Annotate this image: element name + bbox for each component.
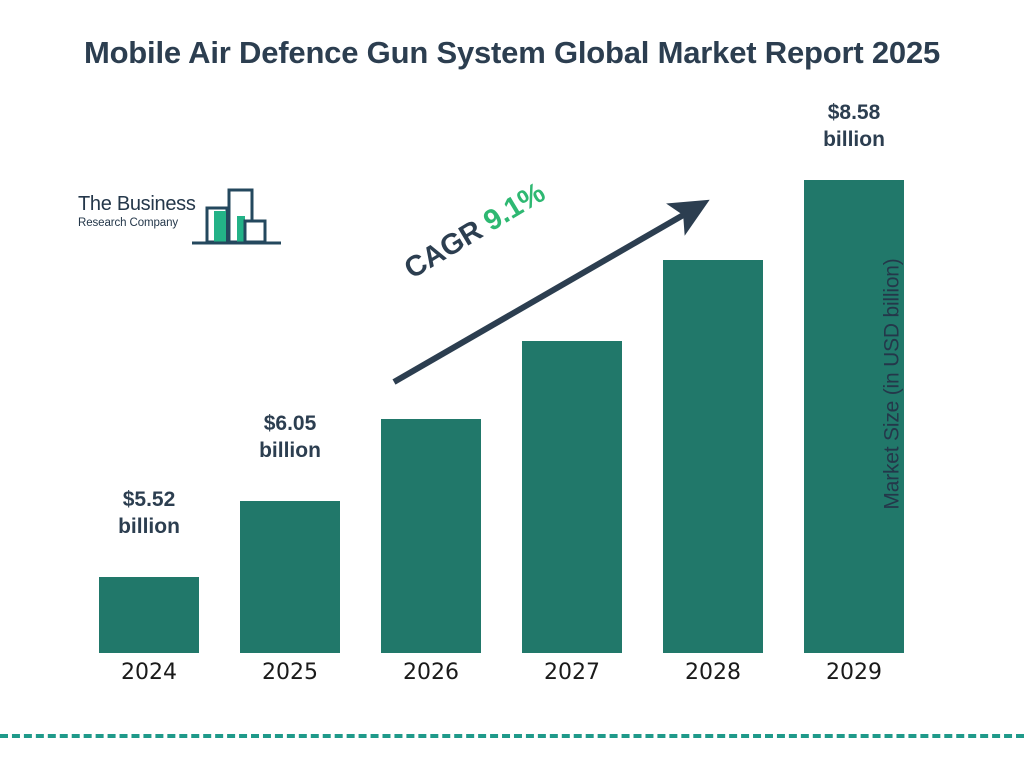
y-axis-label: Market Size (in USD billion): [880, 258, 904, 509]
bar-2025: [240, 501, 340, 653]
bar-value-2029: $8.58billion: [784, 100, 924, 154]
bar-value-2025-text: $6.05billion: [259, 412, 321, 462]
x-tick-2027: 2027: [522, 660, 622, 685]
x-tick-2028: 2028: [663, 660, 763, 685]
x-tick-2029: 2029: [804, 660, 904, 685]
bar-chart-plot: $5.52billion $6.05billion $8.58billion 2…: [0, 0, 1024, 768]
cagr-trend-arrow-icon: [380, 190, 720, 395]
bar-value-2024: $5.52billion: [79, 487, 219, 541]
x-tick-2026: 2026: [381, 660, 481, 685]
bar-value-2029-text: $8.58billion: [823, 101, 885, 151]
chart-page: Mobile Air Defence Gun System Global Mar…: [0, 0, 1024, 768]
x-tick-2025: 2025: [240, 660, 340, 685]
bar-2024: [99, 577, 199, 653]
footer-divider: [0, 734, 1024, 738]
bar-value-2025: $6.05billion: [220, 411, 360, 465]
x-tick-2024: 2024: [99, 660, 199, 685]
bar-value-2024-text: $5.52billion: [118, 488, 180, 538]
bar-2026: [381, 419, 481, 653]
